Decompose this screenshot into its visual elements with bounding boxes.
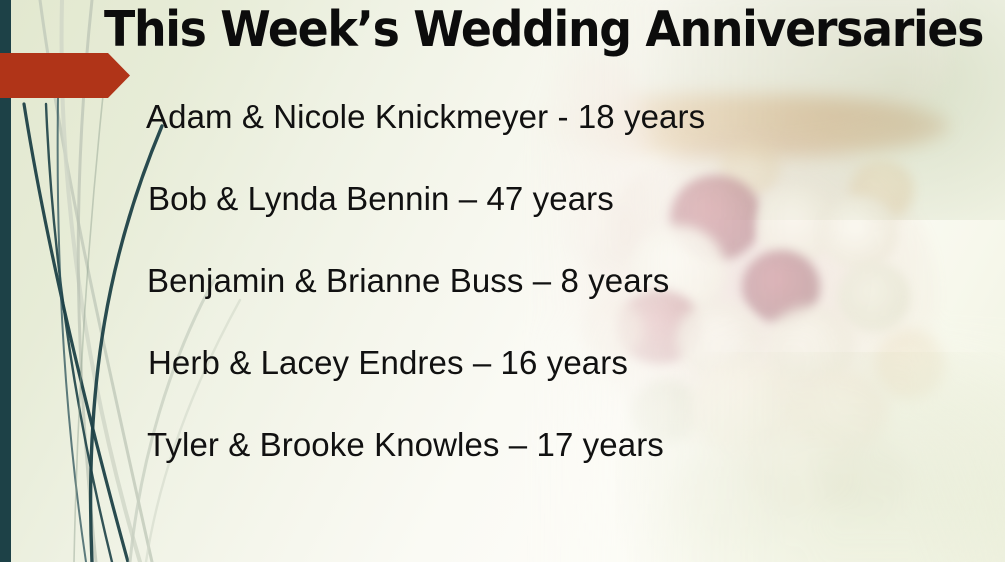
list-item: Bob & Lynda Bennin – 47 years [148, 180, 946, 218]
anniversary-list: Adam & Nicole Knickmeyer - 18 years Bob … [146, 98, 946, 464]
list-item: Benjamin & Brianne Buss – 8 years [147, 262, 946, 300]
list-item: Adam & Nicole Knickmeyer - 18 years [146, 98, 946, 136]
orange-arrow-tag-icon [0, 53, 130, 98]
slide-canvas: This Week’s Wedding Anniversaries Adam &… [0, 0, 1005, 562]
list-item: Herb & Lacey Endres – 16 years [148, 344, 946, 382]
page-title: This Week’s Wedding Anniversaries [104, 2, 908, 58]
list-item: Tyler & Brooke Knowles – 17 years [147, 426, 946, 464]
